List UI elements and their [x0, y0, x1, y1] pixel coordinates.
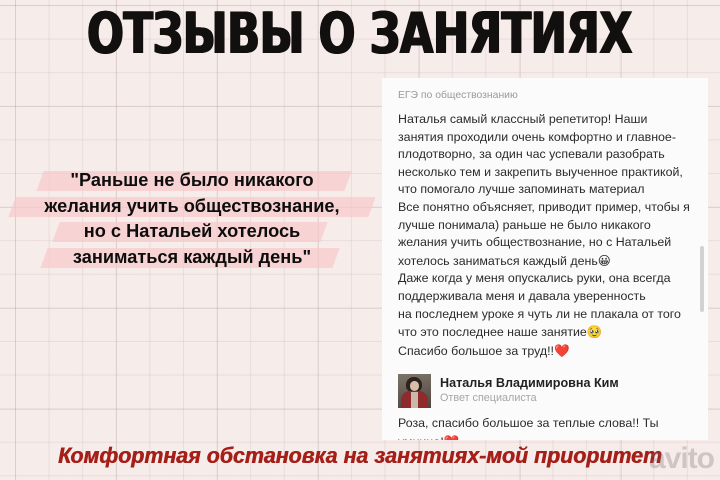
review-card: ЕГЭ по обществознанию Наталья самый клас… — [382, 78, 708, 440]
review-body-part-1: Наталья самый классный репетитор! Наши з… — [398, 112, 693, 268]
review-scrollbar-thumb[interactable] — [700, 246, 704, 312]
review-scrollbar[interactable] — [700, 86, 704, 432]
smiley-face-icon: 😀 — [598, 253, 611, 268]
review-body-part-2: Даже когда у меня опускались руки, она в… — [398, 271, 684, 339]
reply-author: Наталья Владимировна Ким Ответ специалис… — [440, 374, 619, 406]
reply-header: Наталья Владимировна Ким Ответ специалис… — [398, 374, 692, 408]
quote-line: заниматься каждый день" — [22, 245, 362, 270]
review-content: ЕГЭ по обществознанию Наталья самый клас… — [382, 78, 708, 440]
holding-back-tears-icon: 🥹 — [587, 324, 603, 339]
testimonial-quote: "Раньше не было никакого желания учить о… — [22, 168, 362, 270]
avatar — [398, 374, 431, 408]
review-body: Наталья самый классный репетитор! Наши з… — [398, 111, 692, 360]
avatar-body — [401, 391, 428, 408]
quote-line-text: заниматься каждый день" — [73, 247, 311, 267]
poster-canvas: ОТЗЫВЫ О ЗАНЯТИЯХ "Раньше не было никако… — [0, 0, 720, 480]
poster-title-band: ОТЗЫВЫ О ЗАНЯТИЯХ — [0, 0, 720, 68]
quote-line: желания учить обществознание, — [22, 194, 362, 219]
quote-line-text: но с Натальей хотелось — [84, 221, 301, 241]
quote-line: "Раньше не было никакого — [22, 168, 362, 193]
page-title: ОТЗЫВЫ О ЗАНЯТИЯХ — [87, 5, 632, 62]
bottom-banner: Комфортная обстановка на занятиях-мой пр… — [0, 432, 720, 480]
review-subject: ЕГЭ по обществознанию — [398, 89, 692, 103]
quote-line: но с Натальей хотелось — [22, 219, 362, 244]
quote-line-text: желания учить обществознание, — [44, 196, 339, 216]
reply-author-role: Ответ специалиста — [440, 391, 619, 406]
quote-line-text: "Раньше не было никакого — [70, 170, 313, 190]
banner-text: Комфортная обстановка на занятиях-мой пр… — [58, 443, 662, 469]
review-body-part-3: Спасибо большое за труд!! — [398, 344, 554, 358]
reply-author-name: Наталья Владимировна Ким — [440, 375, 619, 391]
specialist-reply: Наталья Владимировна Ким Ответ специалис… — [398, 374, 692, 440]
red-heart-icon: ❤️ — [554, 343, 570, 358]
